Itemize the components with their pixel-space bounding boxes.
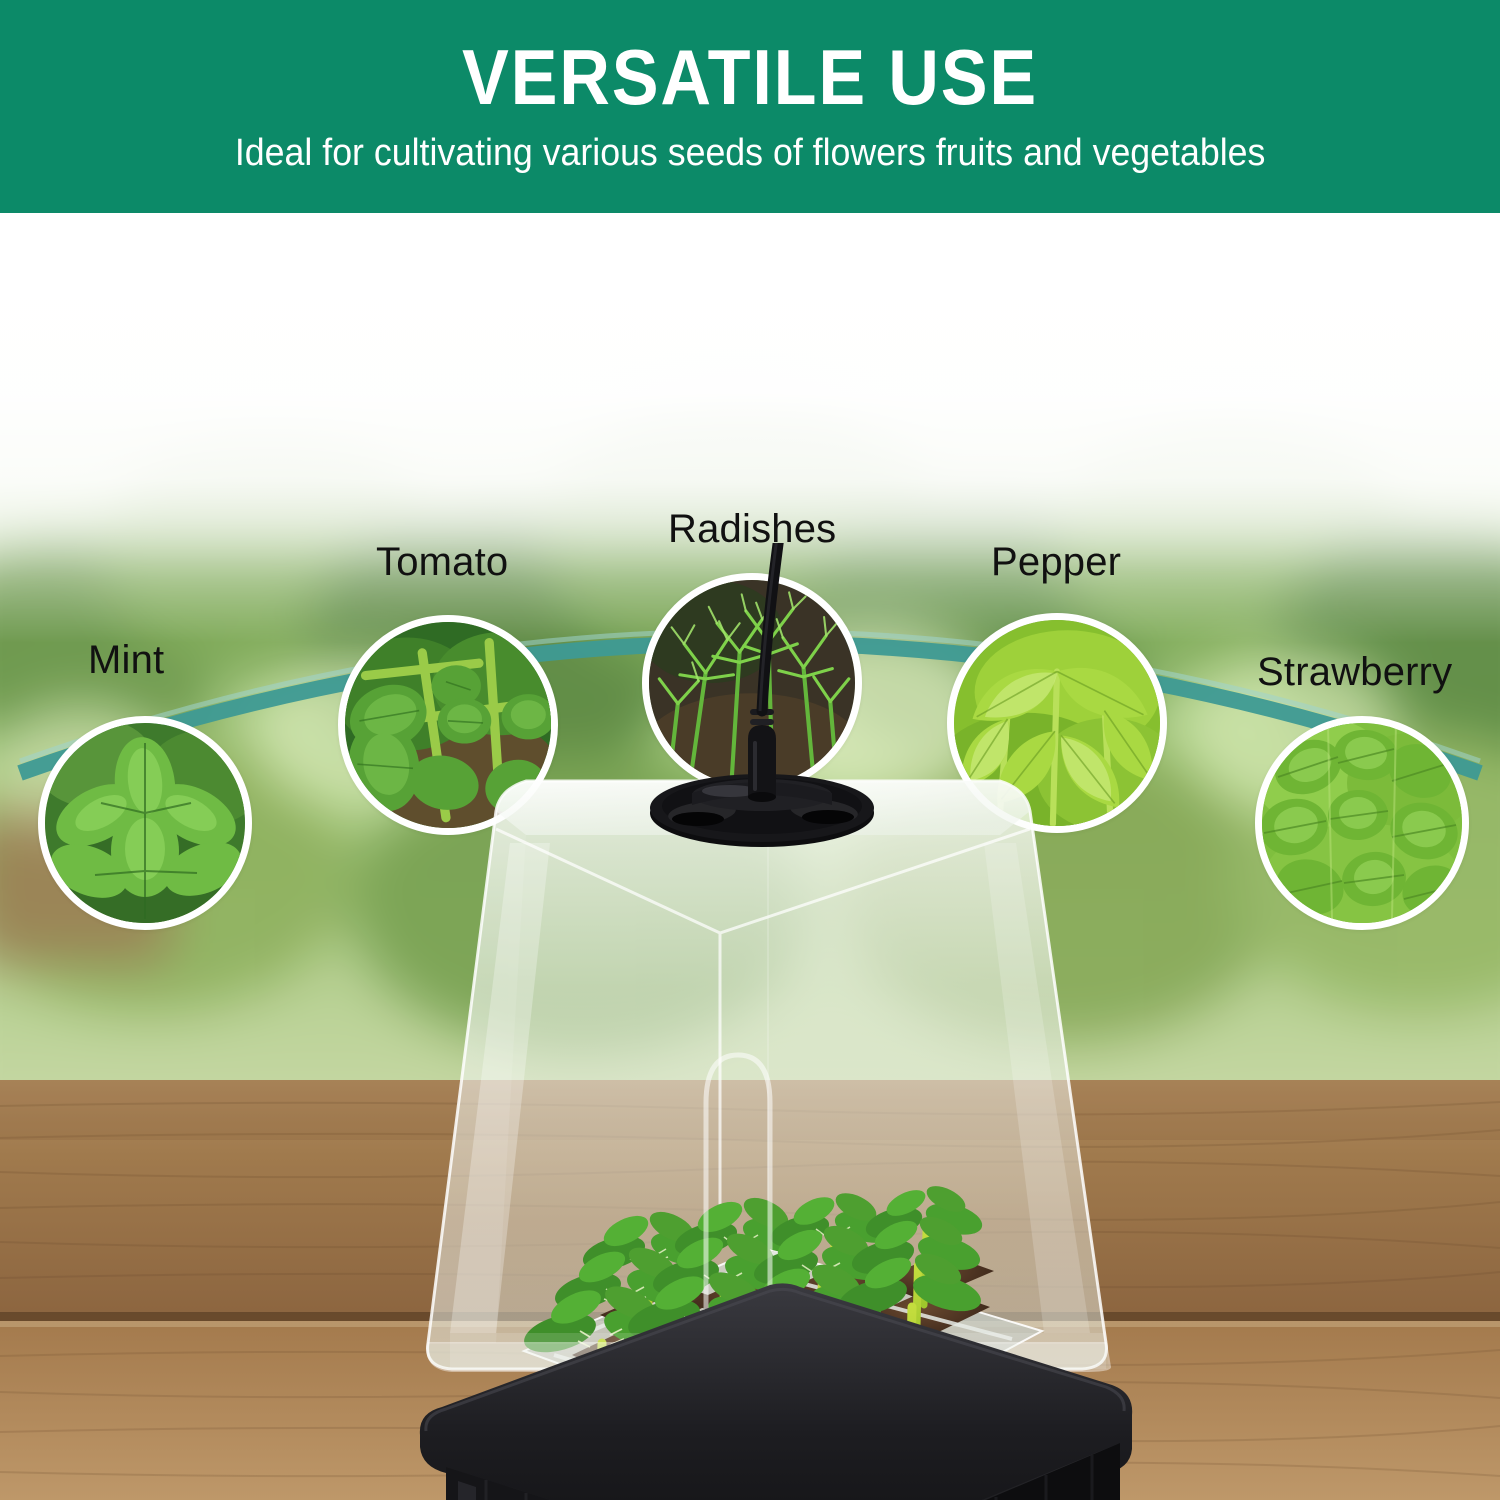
page-title: VERSATILE USE bbox=[462, 38, 1038, 116]
plant-label-strawberry: Strawberry bbox=[1257, 650, 1452, 695]
seed-starter-tray-product bbox=[300, 543, 1220, 1500]
product-scene: Mint bbox=[0, 213, 1500, 1500]
header-banner: VERSATILE USE Ideal for cultivating vari… bbox=[0, 0, 1500, 213]
plant-photo-mint bbox=[38, 716, 252, 930]
page-subtitle: Ideal for cultivating various seeds of f… bbox=[235, 132, 1265, 175]
plant-label-mint: Mint bbox=[88, 638, 164, 683]
plant-photo-strawberry bbox=[1255, 716, 1469, 930]
